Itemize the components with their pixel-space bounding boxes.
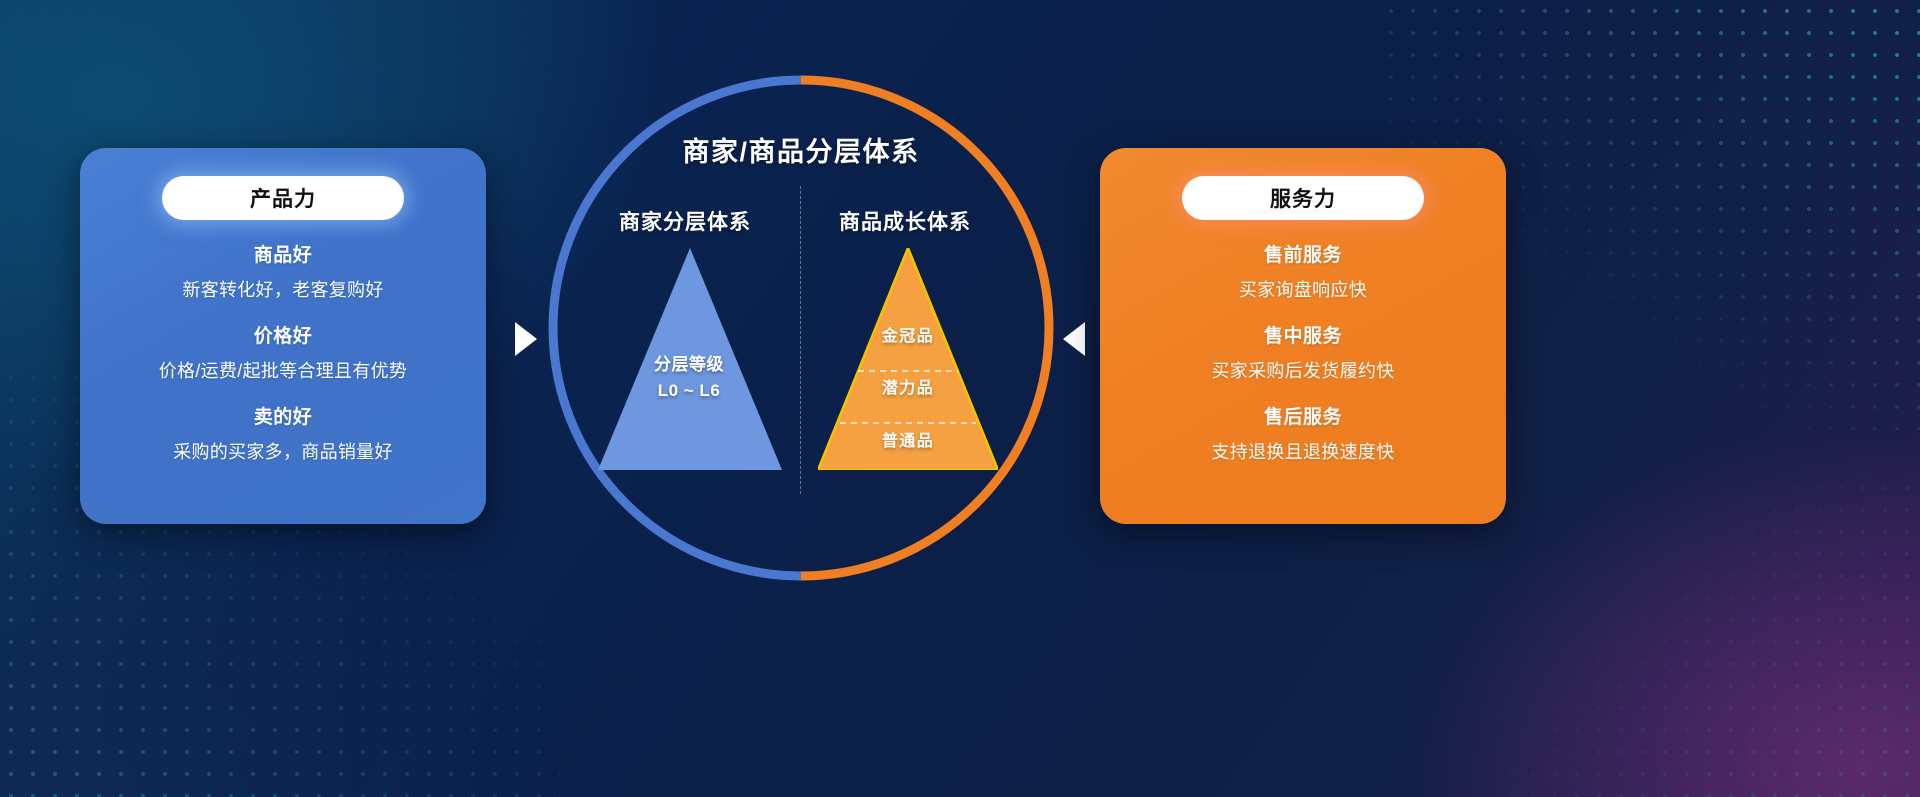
- list-item: 售后服务 支持退换且退换速度快: [1100, 402, 1506, 464]
- pyramid-tier-label-3: 普通品: [818, 427, 998, 451]
- list-item: 商品好 新客转化好，老客复购好: [80, 240, 486, 302]
- item-detail: 新客转化好，老客复购好: [80, 276, 486, 302]
- item-detail: 采购的买家多，商品销量好: [80, 438, 486, 464]
- left-panel-pill: 产品力: [162, 176, 404, 220]
- item-heading: 售后服务: [1100, 402, 1506, 429]
- left-panel-product-power[interactable]: 产品力 商品好 新客转化好，老客复购好 价格好 价格/运费/起批等合理且有优势 …: [80, 148, 486, 524]
- right-panel-item-list: 售前服务 买家询盘响应快 售中服务 买家采购后发货履约快 售后服务 支持退换且退…: [1100, 240, 1506, 464]
- item-heading: 价格好: [80, 321, 486, 348]
- item-heading: 售中服务: [1100, 321, 1506, 348]
- center-title: 商家/商品分层体系: [545, 130, 1057, 169]
- list-item: 售中服务 买家采购后发货履约快: [1100, 321, 1506, 383]
- item-detail: 买家询盘响应快: [1100, 276, 1506, 302]
- list-item: 卖的好 采购的买家多，商品销量好: [80, 402, 486, 464]
- halftone-dots-bottom-right: [1500, 477, 1920, 797]
- list-item: 价格好 价格/运费/起批等合理且有优势: [80, 321, 486, 383]
- list-item: 售前服务 买家询盘响应快: [1100, 240, 1506, 302]
- item-heading: 售前服务: [1100, 240, 1506, 267]
- item-detail: 支持退换且退换速度快: [1100, 438, 1506, 464]
- item-detail: 买家采购后发货履约快: [1100, 357, 1506, 383]
- arrow-right-icon: [515, 322, 537, 356]
- arrow-left-icon: [1063, 322, 1085, 356]
- item-heading: 卖的好: [80, 402, 486, 429]
- left-panel-item-list: 商品好 新客转化好，老客复购好 价格好 价格/运费/起批等合理且有优势 卖的好 …: [80, 240, 486, 464]
- pyramid-tier-label-1: 金冠品: [818, 322, 998, 346]
- pyramid-merchant-tiers: [598, 248, 782, 470]
- pyramid-tier-label-2: 潜力品: [818, 374, 998, 398]
- column-heading-product: 商品成长体系: [795, 206, 1015, 236]
- column-heading-merchant: 商家分层体系: [560, 206, 810, 236]
- slide-canvas: 产品力 商品好 新客转化好，老客复购好 价格好 价格/运费/起批等合理且有优势 …: [0, 0, 1920, 797]
- item-heading: 商品好: [80, 240, 486, 267]
- right-panel-service-power[interactable]: 服务力 售前服务 买家询盘响应快 售中服务 买家采购后发货履约快 售后服务 支持…: [1100, 148, 1506, 524]
- right-panel-pill: 服务力: [1182, 176, 1424, 220]
- item-detail: 价格/运费/起批等合理且有优势: [80, 357, 486, 383]
